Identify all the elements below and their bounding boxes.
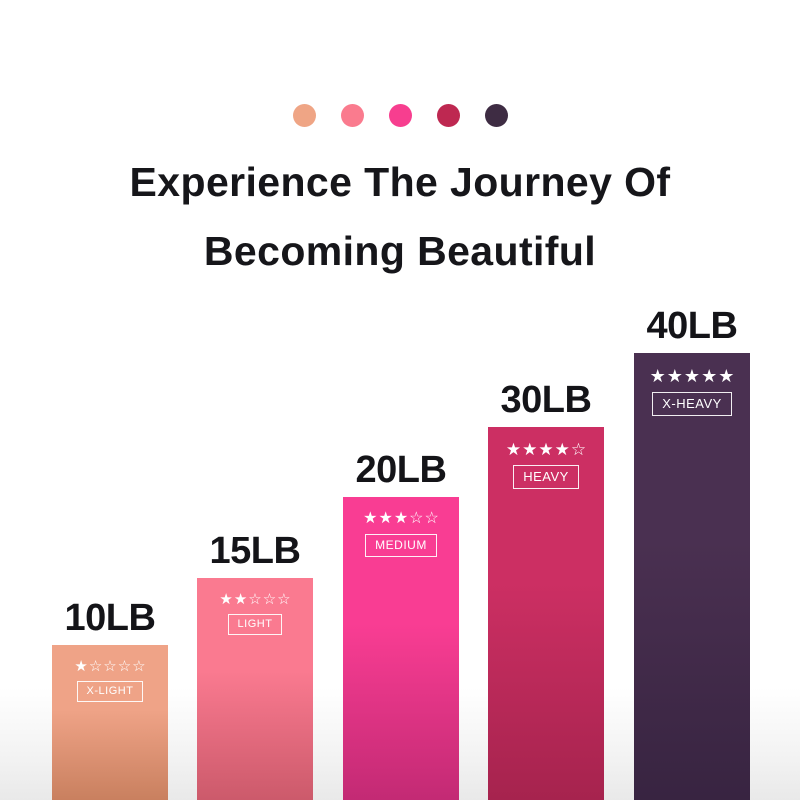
star-rating-15lb: ★★☆☆☆ (219, 592, 290, 607)
star-filled-icon: ★ (667, 367, 683, 385)
star-rating-10lb: ★☆☆☆☆ (74, 659, 145, 674)
star-filled-icon: ★ (363, 511, 377, 527)
bar-group-15lb: 15LB★★☆☆☆LIGHT (197, 518, 313, 800)
bar-badge-40lb: ★★★★★X-HEAVY (634, 353, 750, 416)
strength-tag-15lb: LIGHT (228, 614, 283, 635)
star-empty-icon: ☆ (409, 511, 423, 527)
bar-badge-30lb: ★★★★☆HEAVY (488, 427, 604, 489)
star-rating-20lb: ★★★☆☆ (363, 511, 439, 527)
star-filled-icon: ★ (219, 592, 232, 607)
bar-15lb[interactable]: ★★☆☆☆LIGHT (197, 578, 313, 800)
bar-badge-20lb: ★★★☆☆MEDIUM (343, 497, 459, 557)
bar-group-20lb: 20LB★★★☆☆MEDIUM (343, 437, 459, 800)
bar-10lb[interactable]: ★☆☆☆☆X-LIGHT (52, 645, 168, 800)
star-filled-icon: ★ (718, 367, 734, 385)
star-empty-icon: ☆ (248, 592, 261, 607)
star-filled-icon: ★ (522, 441, 537, 458)
star-empty-icon: ☆ (132, 659, 145, 674)
star-filled-icon: ★ (538, 441, 553, 458)
resistance-bar-chart: 10LB★☆☆☆☆X-LIGHT15LB★★☆☆☆LIGHT20LB★★★☆☆M… (0, 0, 800, 800)
star-empty-icon: ☆ (571, 441, 586, 458)
star-filled-icon: ★ (701, 367, 717, 385)
bar-group-10lb: 10LB★☆☆☆☆X-LIGHT (52, 585, 168, 800)
star-filled-icon: ★ (74, 659, 87, 674)
star-filled-icon: ★ (234, 592, 247, 607)
strength-tag-10lb: X-LIGHT (77, 681, 144, 702)
star-empty-icon: ☆ (277, 592, 290, 607)
star-filled-icon: ★ (506, 441, 521, 458)
star-filled-icon: ★ (650, 367, 666, 385)
star-empty-icon: ☆ (89, 659, 102, 674)
bar-weight-label-20lb: 20LB (343, 451, 459, 489)
bar-20lb[interactable]: ★★★☆☆MEDIUM (343, 497, 459, 800)
star-filled-icon: ★ (378, 511, 392, 527)
star-empty-icon: ☆ (263, 592, 276, 607)
bar-weight-label-10lb: 10LB (52, 599, 168, 637)
star-rating-30lb: ★★★★☆ (506, 441, 586, 458)
bar-badge-15lb: ★★☆☆☆LIGHT (197, 578, 313, 635)
bar-weight-label-40lb: 40LB (634, 307, 750, 345)
strength-tag-20lb: MEDIUM (365, 534, 437, 557)
poster-canvas: Experience The Journey Of Becoming Beaut… (0, 0, 800, 800)
bar-group-30lb: 30LB★★★★☆HEAVY (488, 367, 604, 800)
bar-40lb[interactable]: ★★★★★X-HEAVY (634, 353, 750, 800)
strength-tag-40lb: X-HEAVY (652, 392, 732, 416)
star-filled-icon: ★ (555, 441, 570, 458)
star-rating-40lb: ★★★★★ (650, 367, 735, 385)
bar-badge-10lb: ★☆☆☆☆X-LIGHT (52, 645, 168, 702)
star-filled-icon: ★ (684, 367, 700, 385)
star-filled-icon: ★ (394, 511, 408, 527)
star-empty-icon: ☆ (103, 659, 116, 674)
bar-weight-label-15lb: 15LB (197, 532, 313, 570)
bar-30lb[interactable]: ★★★★☆HEAVY (488, 427, 604, 800)
bar-group-40lb: 40LB★★★★★X-HEAVY (634, 293, 750, 800)
star-empty-icon: ☆ (425, 511, 439, 527)
bar-weight-label-30lb: 30LB (488, 381, 604, 419)
star-empty-icon: ☆ (118, 659, 131, 674)
strength-tag-30lb: HEAVY (513, 465, 579, 489)
